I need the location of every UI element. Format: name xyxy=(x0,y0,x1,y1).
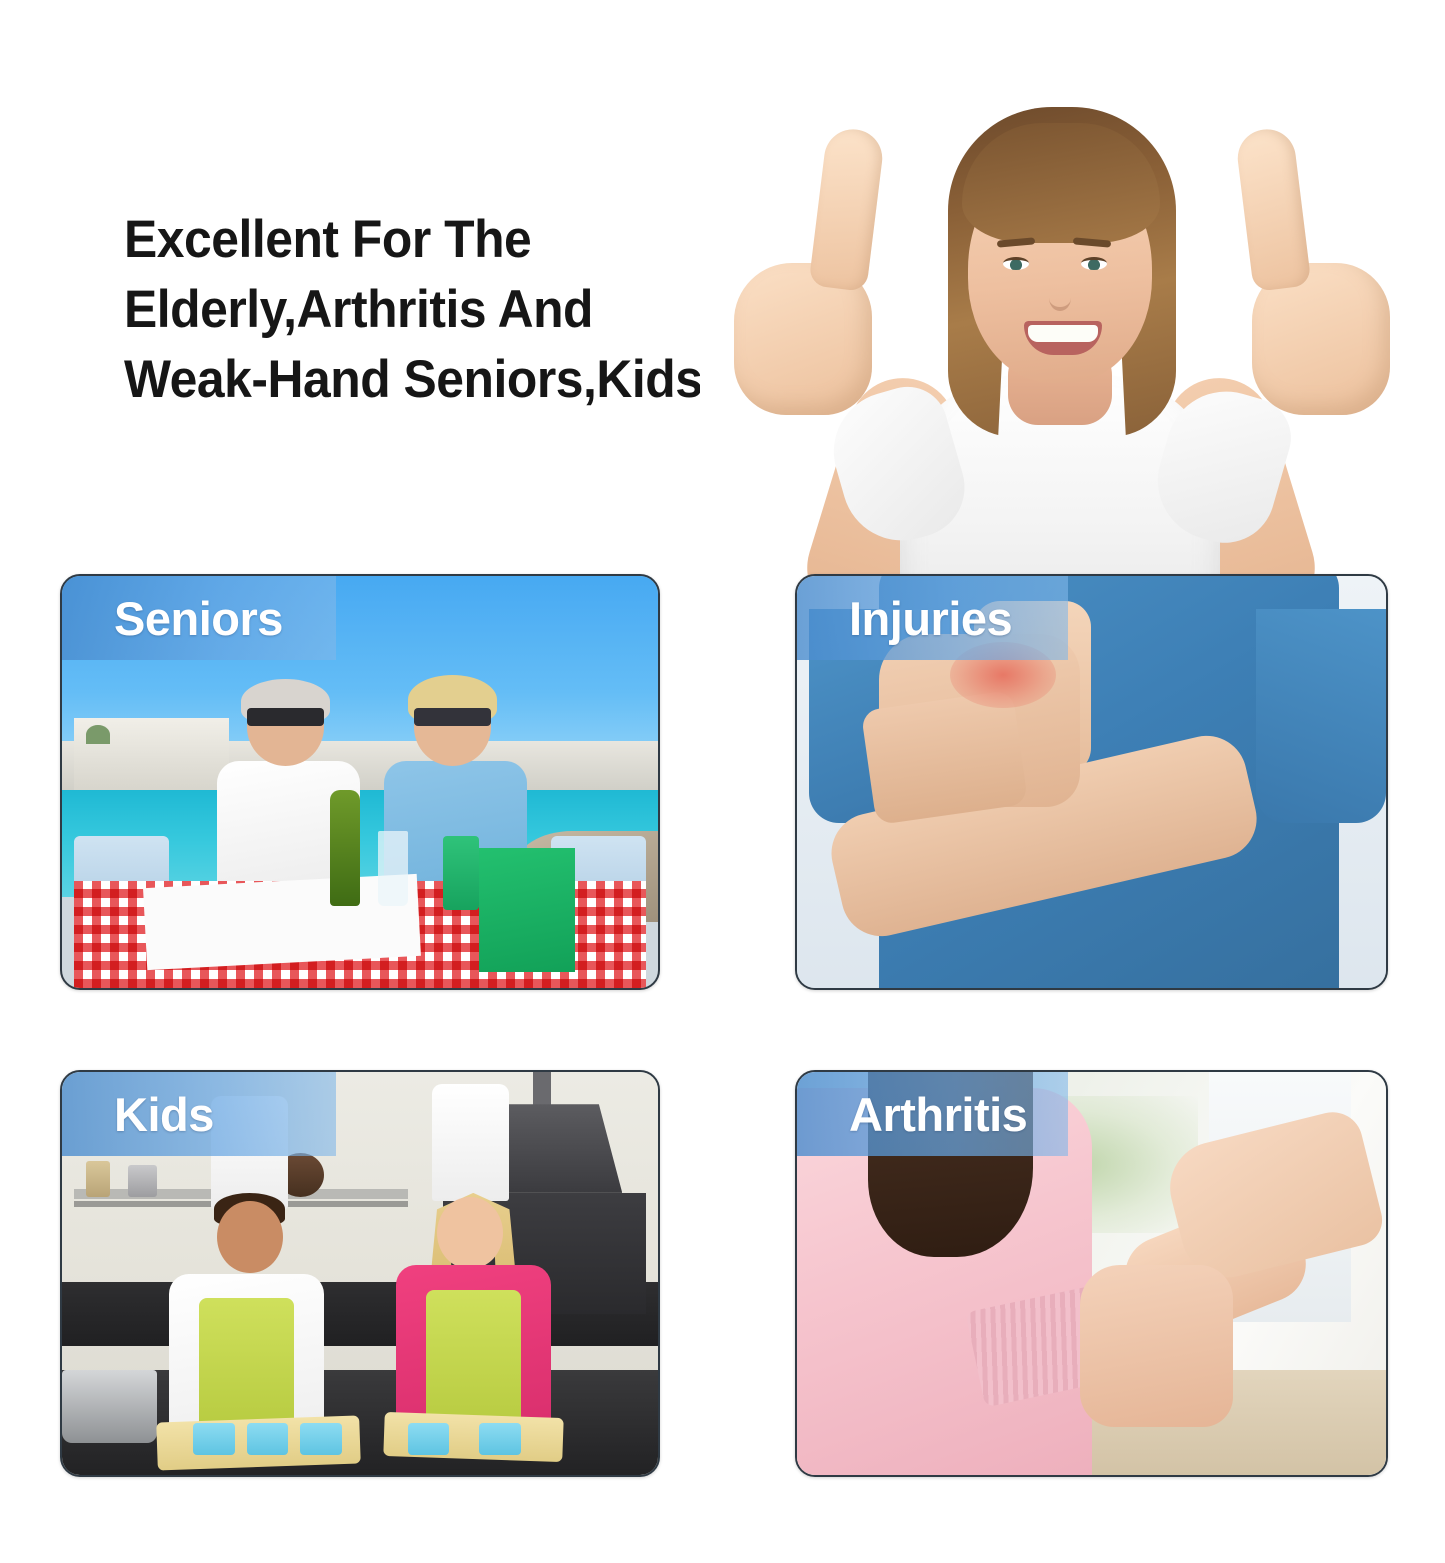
card-label-injuries: Injuries xyxy=(849,595,1012,642)
seniors-man-sunglasses xyxy=(247,708,324,727)
card-banner-arthritis: Arthritis xyxy=(797,1072,1068,1156)
card-label-kids: Kids xyxy=(114,1091,214,1138)
kids-jar-one xyxy=(86,1161,110,1197)
thumbs-up-icon-right xyxy=(1234,126,1311,292)
card-banner-kids: Kids xyxy=(62,1072,336,1156)
kids-cookie-cutter xyxy=(247,1423,289,1455)
seniors-beer-bottle xyxy=(330,790,360,905)
arthritis-holding-hand xyxy=(1080,1265,1233,1426)
thumbs-up-icon-left xyxy=(808,126,885,292)
feature-card-arthritis[interactable]: Arthritis xyxy=(795,1070,1388,1477)
kids-jar-two xyxy=(128,1165,158,1197)
injuries-sleeve-right xyxy=(1256,609,1386,823)
page-title: Excellent For The Elderly,Arthritis And … xyxy=(124,205,707,415)
hero-hair-front xyxy=(962,123,1160,243)
feature-card-injuries[interactable]: Injuries xyxy=(795,574,1388,990)
card-banner-injuries: Injuries xyxy=(797,576,1068,660)
kids-cookie-cutter xyxy=(193,1423,235,1455)
kids-boy-head xyxy=(217,1201,283,1274)
hero-nose xyxy=(1049,285,1071,311)
card-label-arthritis: Arthritis xyxy=(849,1091,1027,1138)
hero-image-thumbs-up-girl xyxy=(700,45,1420,605)
kids-cookie-cutter xyxy=(479,1423,521,1455)
seniors-woman-sunglasses xyxy=(414,708,491,727)
card-banner-seniors: Seniors xyxy=(62,576,336,660)
kids-cookie-cutter xyxy=(408,1423,450,1455)
product-feature-infographic: Excellent For The Elderly,Arthritis And … xyxy=(0,0,1445,1563)
seniors-town-buildings xyxy=(62,741,658,795)
kids-girl-head xyxy=(437,1197,503,1270)
feature-card-kids[interactable]: Kids xyxy=(60,1070,660,1477)
card-label-seniors: Seniors xyxy=(114,595,283,642)
hero-teeth xyxy=(1028,325,1098,342)
kids-girl-chef-hat xyxy=(432,1084,509,1201)
hero-eye-right xyxy=(1081,257,1107,270)
hero-eye-left xyxy=(1003,257,1029,270)
injuries-fingers xyxy=(860,689,1028,825)
kids-cookie-cutter xyxy=(300,1423,342,1455)
feature-card-seniors[interactable]: Seniors xyxy=(60,574,660,990)
seniors-green-bag xyxy=(479,848,574,972)
seniors-green-can xyxy=(443,836,479,910)
seniors-drinking-glass xyxy=(378,831,408,905)
kids-mixing-bowl xyxy=(62,1370,157,1443)
